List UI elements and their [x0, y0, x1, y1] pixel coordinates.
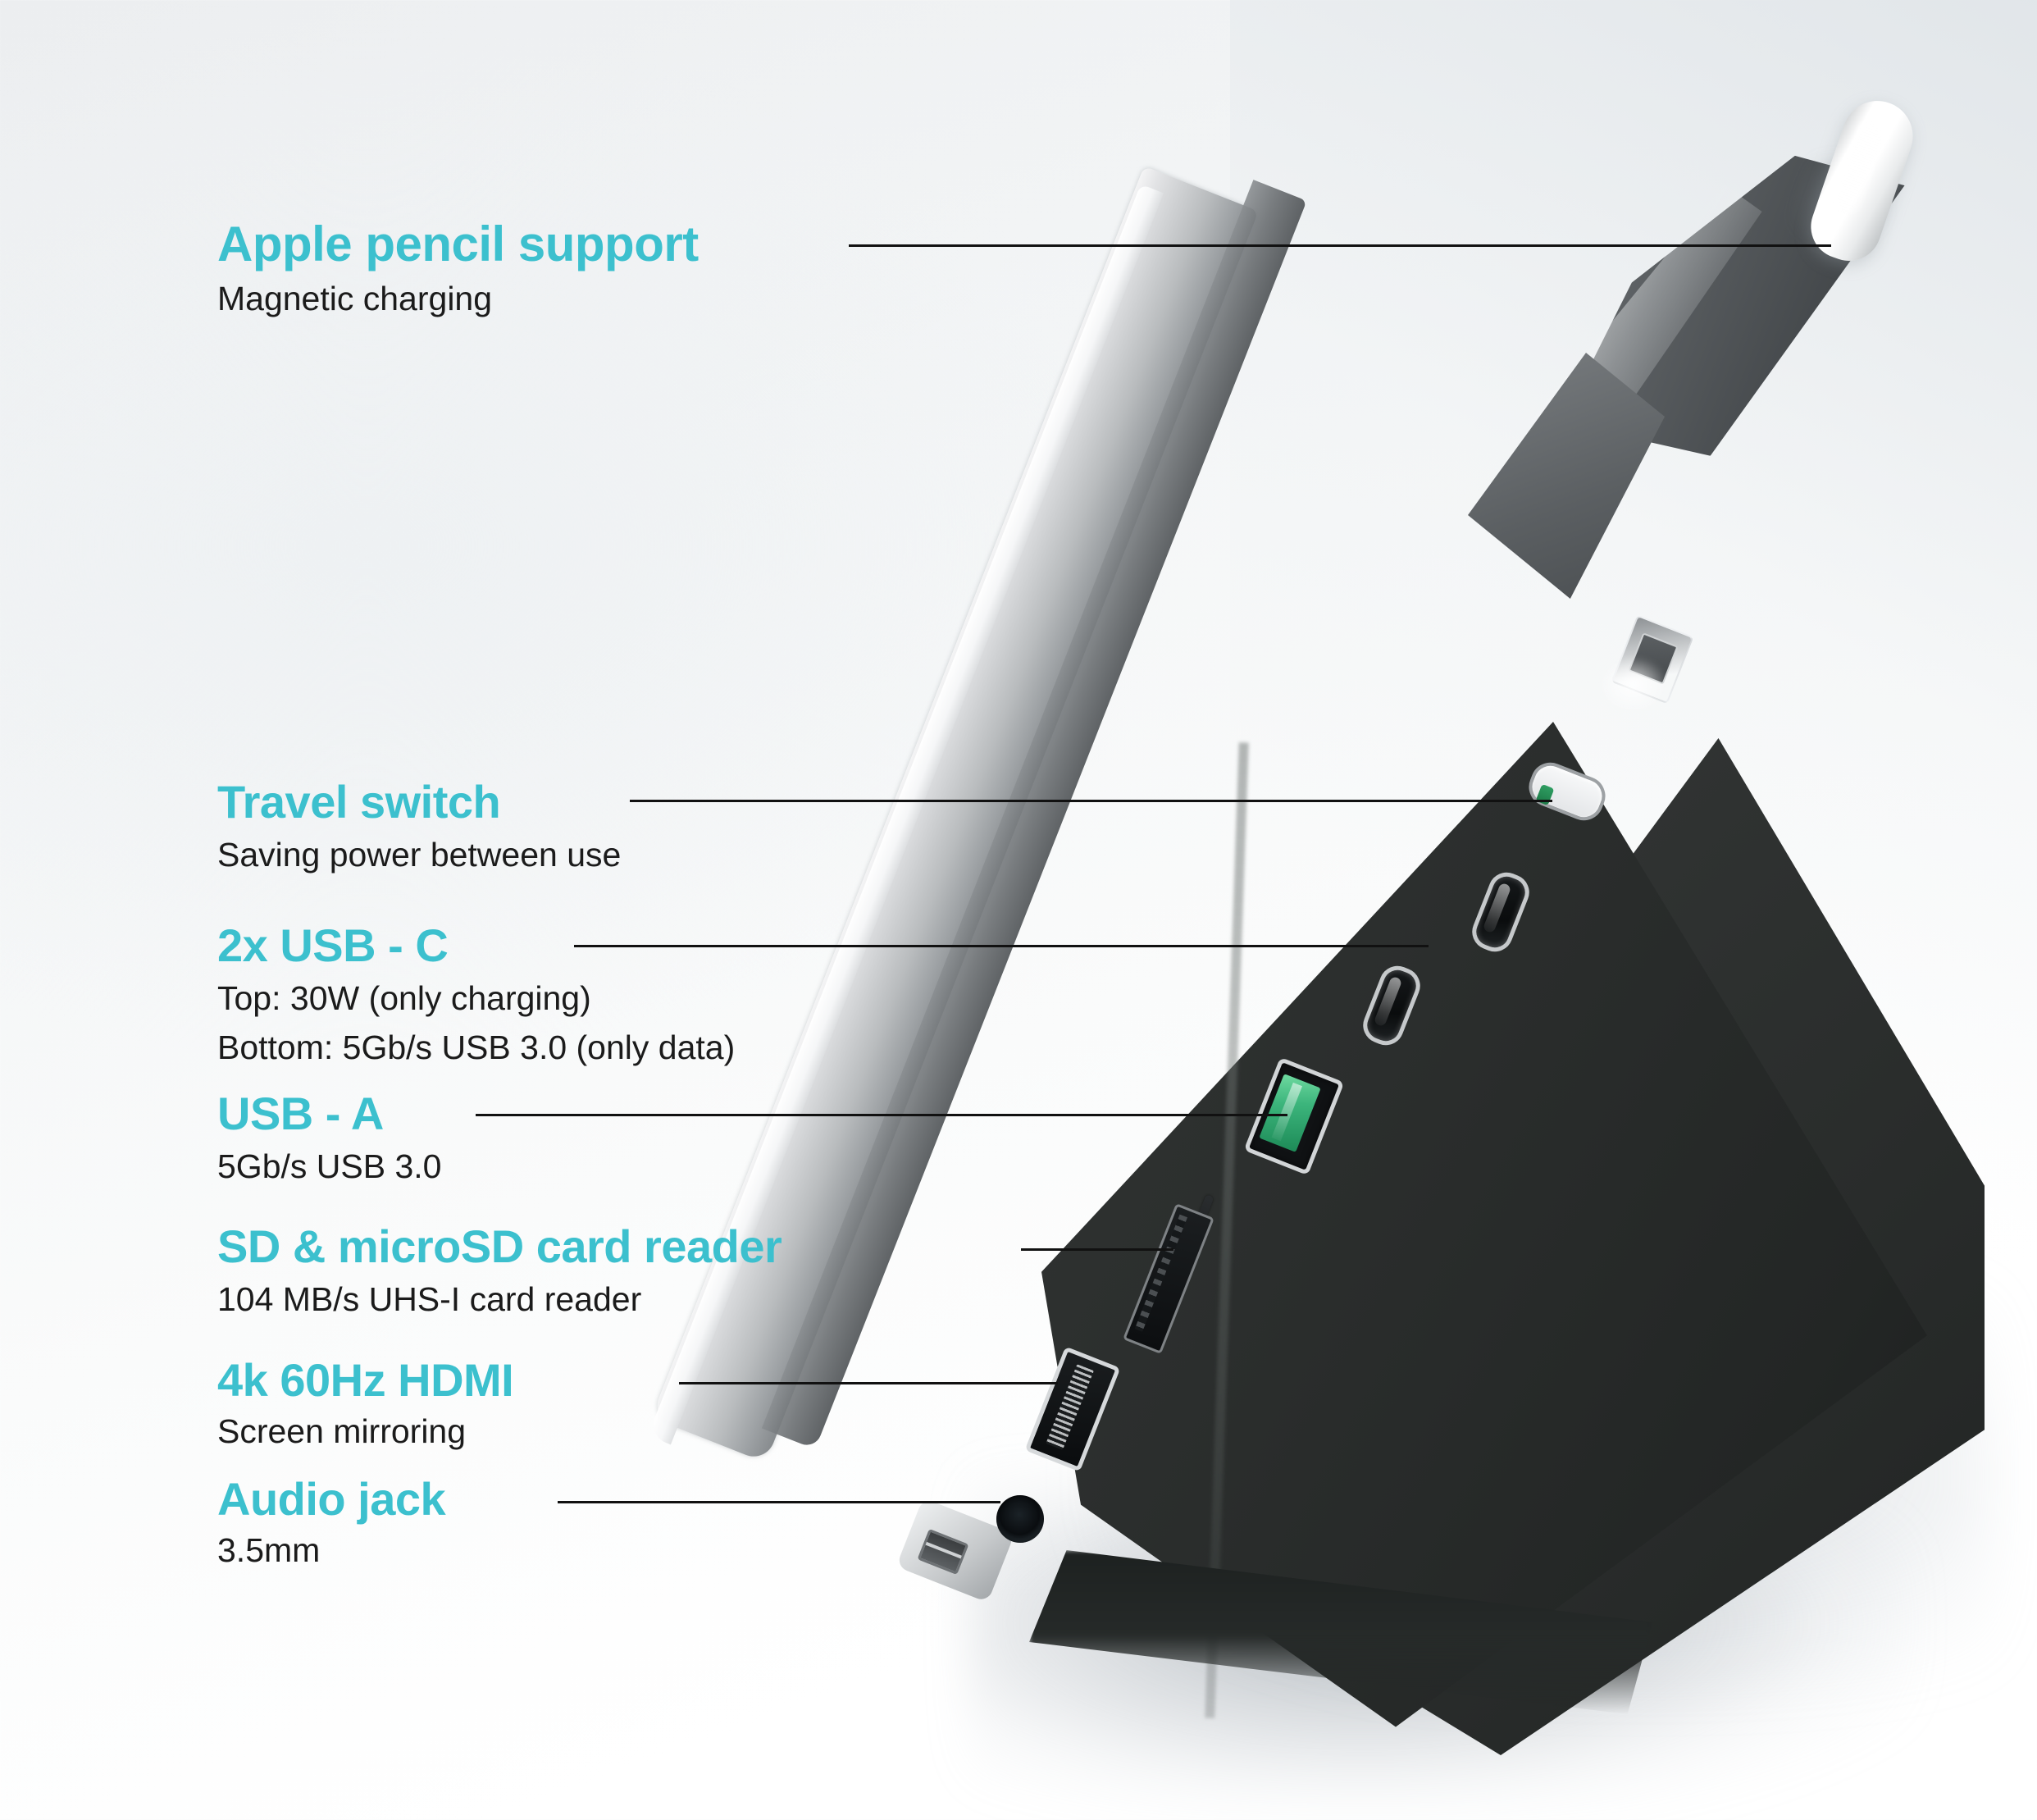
leader-line-hdmi [679, 1382, 1058, 1384]
leader-line-audio-jack [558, 1501, 1000, 1503]
callout-subtitle: Saving power between use [217, 836, 621, 874]
device-aluminium-edge [869, 189, 1492, 1665]
device-latch-highlight [1597, 656, 1668, 714]
callout-subtitle: Magnetic charging [217, 280, 699, 318]
callout-sd-card-reader: SD & microSD card reader 104 MB/s UHS-I … [217, 1224, 782, 1319]
callout-title: SD & microSD card reader [217, 1224, 782, 1270]
callout-audio-jack: Audio jack 3.5mm [217, 1476, 445, 1570]
callout-title: 4k 60Hz HDMI [217, 1357, 513, 1403]
callout-subtitle: 5Gb/s USB 3.0 [217, 1147, 441, 1186]
callout-title: USB - A [217, 1091, 441, 1137]
leader-line-usb-a [476, 1114, 1287, 1116]
edge-bar-side-face [762, 180, 1307, 1449]
callout-subtitle: 3.5mm [217, 1531, 445, 1570]
callout-subtitle-line-1: Top: 30W (only charging) [217, 979, 735, 1018]
callout-title: Travel switch [217, 779, 621, 825]
callout-title: Apple pencil support [217, 220, 699, 269]
callout-title: 2x USB - C [217, 923, 735, 969]
leader-line-apple-pencil [849, 244, 1831, 247]
callout-usb-c: 2x USB - C Top: 30W (only charging) Bott… [217, 923, 735, 1067]
callout-travel-switch: Travel switch Saving power between use [217, 779, 621, 874]
callout-usb-a: USB - A 5Gb/s USB 3.0 [217, 1091, 441, 1186]
callout-subtitle-line-2: Bottom: 5Gb/s USB 3.0 (only data) [217, 1029, 735, 1067]
callout-hdmi: 4k 60Hz HDMI Screen mirroring [217, 1357, 513, 1451]
callout-subtitle: Screen mirroring [217, 1412, 513, 1451]
leader-line-travel-switch [630, 800, 1552, 802]
callout-title: Audio jack [217, 1476, 445, 1522]
leader-line-sd-card-reader [1021, 1248, 1173, 1251]
callout-apple-pencil-support: Apple pencil support Magnetic charging [217, 220, 699, 318]
callout-subtitle: 104 MB/s UHS-I card reader [217, 1280, 782, 1319]
